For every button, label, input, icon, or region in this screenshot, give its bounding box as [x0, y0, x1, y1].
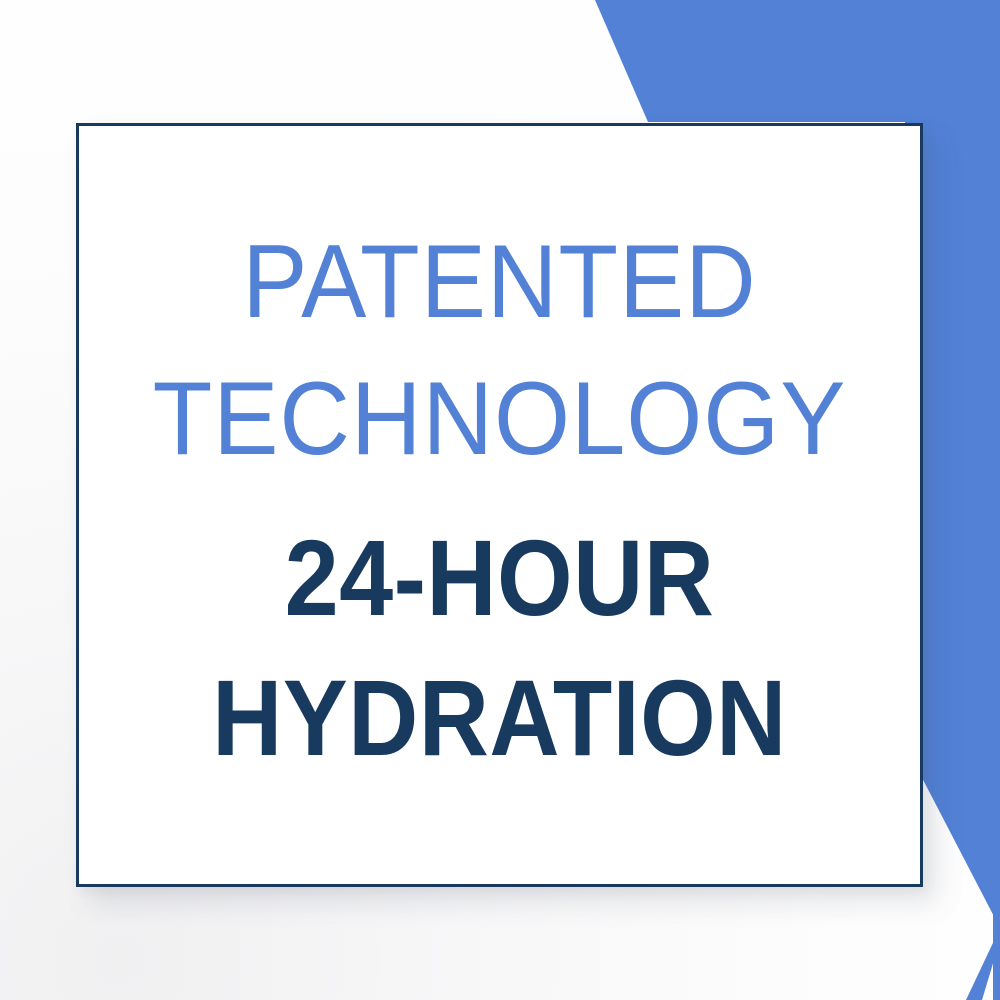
headline-line-1: 24-HOUR — [121, 508, 878, 648]
headline-block: 24-HOUR HYDRATION — [79, 508, 920, 788]
eyebrow-block: PATENTED TECHNOLOGY — [79, 214, 920, 488]
poster-canvas: PATENTED TECHNOLOGY 24-HOUR HYDRATION — [0, 0, 1000, 1000]
content-card: PATENTED TECHNOLOGY 24-HOUR HYDRATION — [76, 123, 923, 887]
eyebrow-line-1: PATENTED — [104, 214, 895, 351]
headline-line-2: HYDRATION — [121, 648, 878, 788]
card-inner: PATENTED TECHNOLOGY 24-HOUR HYDRATION — [79, 214, 920, 788]
eyebrow-line-2: TECHNOLOGY — [104, 351, 895, 488]
